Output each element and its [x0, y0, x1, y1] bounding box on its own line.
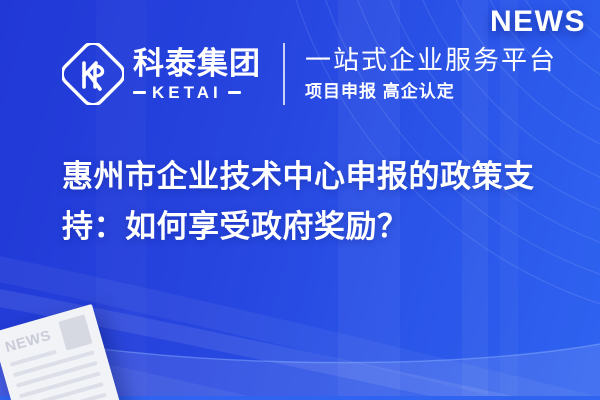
- logo-rule-left: [133, 91, 146, 94]
- ketai-diamond-kp-logo-icon: [62, 43, 124, 105]
- tagline-main: 一站式企业服务平台: [305, 46, 557, 76]
- header-tagline: 一站式企业服务平台 项目申报 高企认定: [305, 46, 557, 101]
- logo-rule-right: [228, 91, 241, 94]
- tagline-sub: 项目申报 高企认定: [305, 82, 557, 102]
- brand-name-en-row: KETAI: [133, 84, 261, 101]
- header-divider: [283, 43, 285, 105]
- brand-name-cn: 科泰集团: [133, 48, 261, 79]
- brand-logo[interactable]: 科泰集团 KETAI: [62, 43, 261, 105]
- brand-header: 科泰集团 KETAI 一站式企业服务平台 项目申报 高企认定: [0, 34, 600, 114]
- article-title: 惠州市企业技术中心申报的政策支持：如何享受政府奖励？: [62, 152, 566, 252]
- brand-name-en: KETAI: [152, 84, 222, 101]
- brand-logo-text: 科泰集团 KETAI: [133, 48, 261, 101]
- news-banner: NEWS 科泰集团 KETAI: [0, 0, 600, 400]
